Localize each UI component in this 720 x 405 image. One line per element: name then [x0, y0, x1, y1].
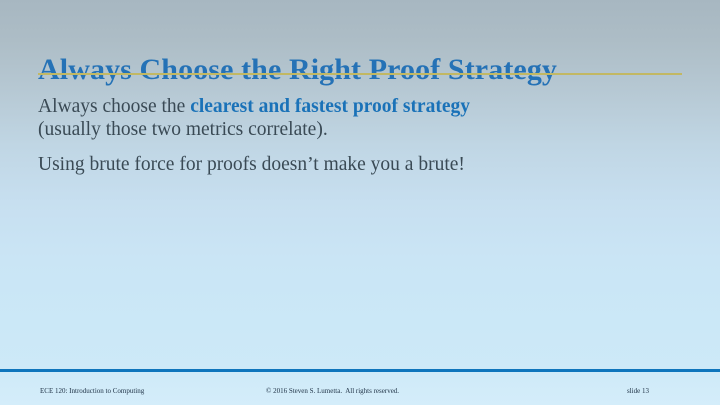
paragraph-2-text: Using brute force for proofs doesn’t mak…	[38, 154, 465, 175]
footer-slide-number: slide 13	[627, 387, 649, 396]
paragraph-1-lead-text: Always choose the	[38, 96, 190, 117]
body-paragraph-1: Always choose the clearest and fastest p…	[38, 96, 518, 141]
slide-title: Always Choose the Right Proof Strategy	[38, 53, 688, 87]
slide-body: Always choose the clearest and fastest p…	[38, 96, 518, 177]
title-underline-rule	[38, 73, 682, 75]
slide: Always Choose the Right Proof Strategy A…	[0, 0, 720, 405]
paragraph-1-tail-text: (usually those two metrics correlate).	[38, 119, 328, 140]
footer-copyright-label: © 2016 Steven S. Lumetta. All rights res…	[266, 387, 399, 396]
footer-course-label: ECE 120: Introduction to Computing	[40, 387, 144, 396]
paragraph-1-emphasis-text: clearest and fastest proof strategy	[190, 96, 470, 117]
body-paragraph-2: Using brute force for proofs doesn’t mak…	[38, 154, 518, 177]
